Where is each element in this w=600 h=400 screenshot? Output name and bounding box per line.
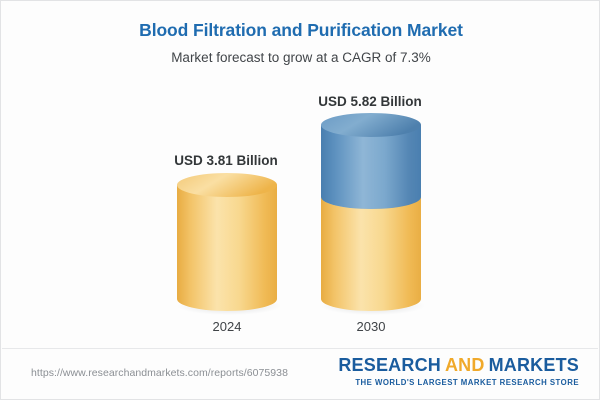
footer: https://www.researchandmarkets.com/repor…	[1, 349, 600, 399]
chart-card: Blood Filtration and Purification Market…	[0, 0, 600, 400]
cylinder-bar-2024[interactable]	[173, 173, 281, 315]
cylinder-bar-2030[interactable]	[317, 113, 425, 315]
logo-wordmark: RESEARCHANDMARKETS	[338, 355, 579, 376]
value-label-2024: USD 3.81 Billion	[126, 153, 326, 168]
value-label-2030: USD 5.82 Billion	[270, 94, 470, 109]
logo-word-markets: MARKETS	[489, 355, 579, 375]
plot-area: USD 3.81 Billion	[1, 1, 600, 349]
logo-word-and: AND	[445, 355, 485, 375]
source-url-link[interactable]: https://www.researchandmarkets.com/repor…	[31, 367, 288, 379]
logo-tagline: THE WORLD'S LARGEST MARKET RESEARCH STOR…	[338, 378, 579, 388]
logo-word-research: RESEARCH	[338, 355, 441, 375]
category-label-2030: 2030	[271, 319, 471, 334]
research-and-markets-logo[interactable]: RESEARCHANDMARKETS THE WORLD'S LARGEST M…	[338, 355, 579, 388]
